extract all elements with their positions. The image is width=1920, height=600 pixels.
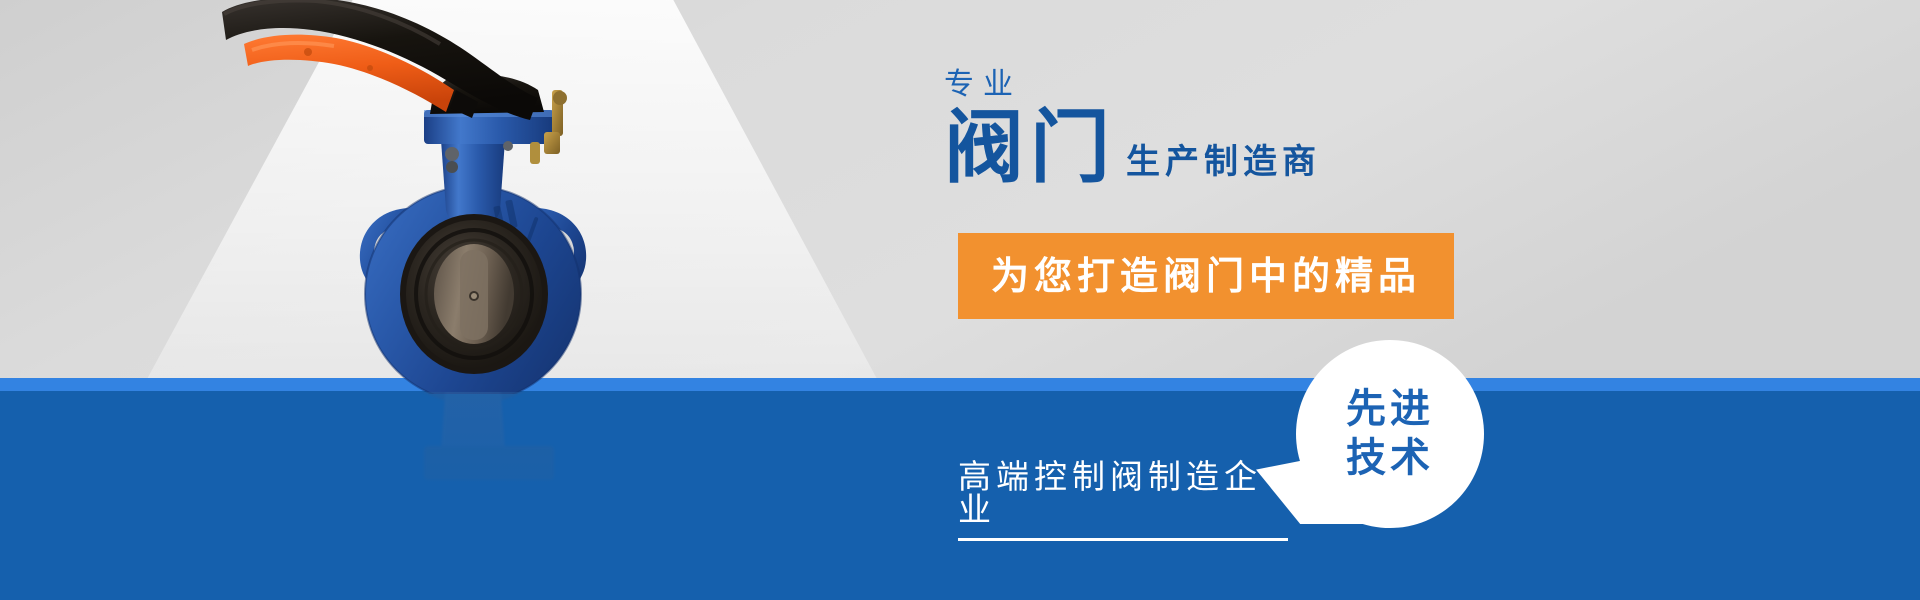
product-image-butterfly-valve bbox=[208, 0, 728, 394]
cta-button-label: 为您打造阀门中的精品 bbox=[991, 257, 1421, 295]
cta-button[interactable]: 为您打造阀门中的精品 bbox=[958, 233, 1454, 319]
kicker-text: 专业 bbox=[944, 70, 1022, 100]
mirror-reflection-icon bbox=[208, 392, 728, 600]
tagline-text: 高端控制阀制造企业 bbox=[958, 460, 1288, 541]
headline-main-text: 阀门 bbox=[944, 110, 1116, 186]
headline: 阀门 生产制造商 bbox=[944, 110, 1321, 186]
badge-advanced-technology: 先进 技术 bbox=[1296, 340, 1484, 528]
badge-line-1: 先进 bbox=[1346, 385, 1434, 434]
hero-banner: 专业 阀门 生产制造商 为您打造阀门中的精品 高端控制阀制造企业 先进 技术 bbox=[0, 0, 1920, 600]
badge-line-2: 技术 bbox=[1346, 434, 1434, 483]
headline-sub-text: 生产制造商 bbox=[1116, 145, 1321, 186]
